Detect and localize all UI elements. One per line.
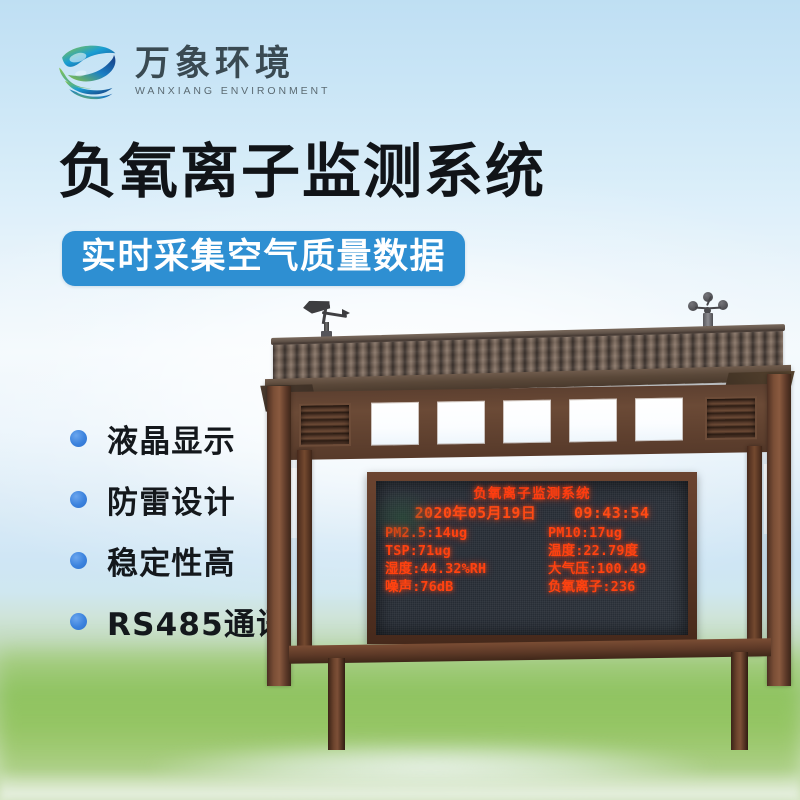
page-title: 负氧离子监测系统	[58, 141, 546, 204]
louver-vent-right	[705, 396, 757, 440]
feature-label: 防雷设计	[107, 477, 236, 522]
brand-name-en: WANXIANG ENVIRONMENT	[135, 85, 330, 97]
led-datetime: 2020年05月19日 09:43:54	[385, 506, 679, 521]
globe-swirl-logo-icon	[52, 36, 124, 108]
brand-logo: 万象环境 WANXIANG ENVIRONMENT	[52, 36, 330, 108]
reading-noise: 噪声:76dB	[385, 580, 530, 595]
window-opening	[503, 400, 551, 444]
led-date: 2020年05月19日	[415, 504, 537, 522]
window-opening	[635, 397, 683, 441]
reading-pressure: 大气压:100.49	[534, 562, 679, 577]
feature-label: 稳定性高	[107, 538, 236, 583]
window-opening	[569, 399, 617, 443]
reading-pm25: PM2.5:14ug	[385, 526, 530, 541]
support-leg-left	[328, 658, 345, 750]
led-title: 负氧离子监测系统	[385, 488, 679, 502]
lower-rail	[289, 638, 771, 664]
blue-dot-icon	[70, 613, 87, 630]
led-readings-grid: PM2.5:14ug PM10:17ug TSP:71ug 温度:22.79度 …	[385, 526, 679, 595]
feature-label: 液晶显示	[107, 416, 236, 461]
bottom-fade	[0, 770, 800, 800]
window-opening	[371, 402, 419, 446]
monitoring-station: 负氧离子监测系统 2020年05月19日 09:43:54 PM2.5:14ug…	[255, 300, 800, 750]
reading-humidity: 湿度:44.32%RH	[385, 562, 530, 577]
window-opening	[437, 401, 485, 445]
poster-canvas: 万象环境 WANXIANG ENVIRONMENT 负氧离子监测系统 实时采集空…	[0, 0, 800, 800]
blue-dot-icon	[70, 430, 87, 447]
brand-name-cn: 万象环境	[135, 47, 330, 83]
reading-pm10: PM10:17ug	[534, 526, 679, 541]
louver-vent-left	[299, 403, 351, 447]
post-inner-left	[297, 450, 312, 656]
reading-tsp: TSP:71ug	[385, 544, 530, 559]
reading-temp: 温度:22.79度	[534, 544, 679, 559]
subtitle-badge: 实时采集空气质量数据	[62, 231, 465, 286]
led-display-screen: 负氧离子监测系统 2020年05月19日 09:43:54 PM2.5:14ug…	[376, 481, 688, 635]
support-leg-right	[731, 652, 748, 750]
led-time: 09:43:54	[574, 504, 649, 522]
post-inner-right	[747, 446, 762, 656]
reading-anion: 负氧离子:236	[534, 580, 679, 595]
upper-frame-band	[287, 384, 771, 460]
blue-dot-icon	[70, 552, 87, 569]
post-outer-left	[267, 386, 291, 686]
led-display-frame: 负氧离子监测系统 2020年05月19日 09:43:54 PM2.5:14ug…	[367, 472, 697, 644]
blue-dot-icon	[70, 491, 87, 508]
